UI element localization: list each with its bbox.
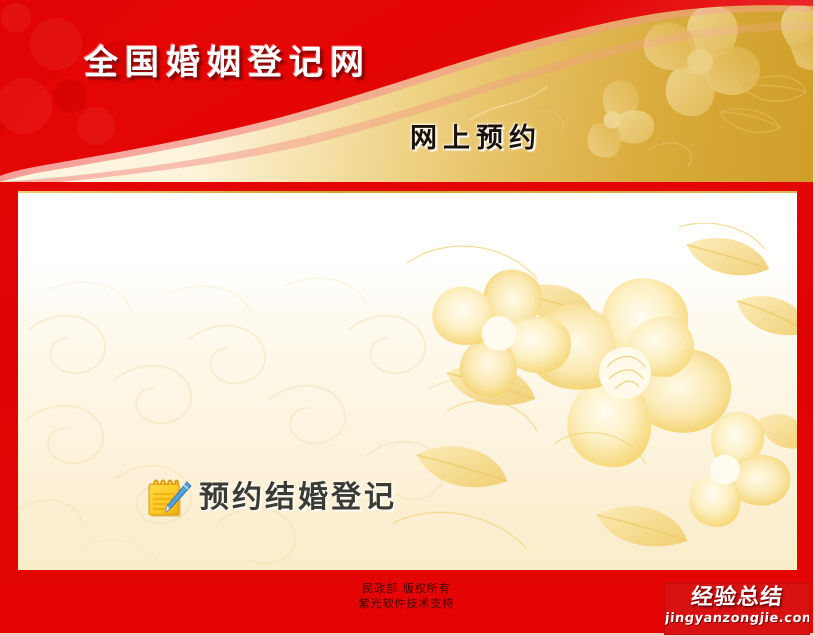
watermark-chinese-text: 经验总结 bbox=[664, 585, 810, 611]
notepad-pen-icon bbox=[143, 476, 193, 520]
banner-red-wave bbox=[0, 0, 813, 182]
watermark-url-text: jingyanzongjie.com bbox=[664, 611, 810, 627]
watermark-badge: 经验总结 jingyanzongjie.com bbox=[664, 583, 810, 635]
site-banner: 全国婚姻登记网 网上预约 bbox=[0, 0, 813, 182]
banner-subtitle: 网上预约 bbox=[410, 122, 542, 156]
content-floral-artwork bbox=[387, 223, 797, 553]
page-root: 全国婚姻登记网 网上预约 bbox=[0, 0, 818, 637]
main-content-panel: 预约结婚登记 bbox=[18, 193, 797, 570]
site-title: 全国婚姻登记网 bbox=[84, 42, 371, 84]
link-marriage-label: 预约结婚登记 bbox=[199, 479, 397, 517]
link-marriage-registration-appointment[interactable]: 预约结婚登记 bbox=[143, 476, 397, 520]
